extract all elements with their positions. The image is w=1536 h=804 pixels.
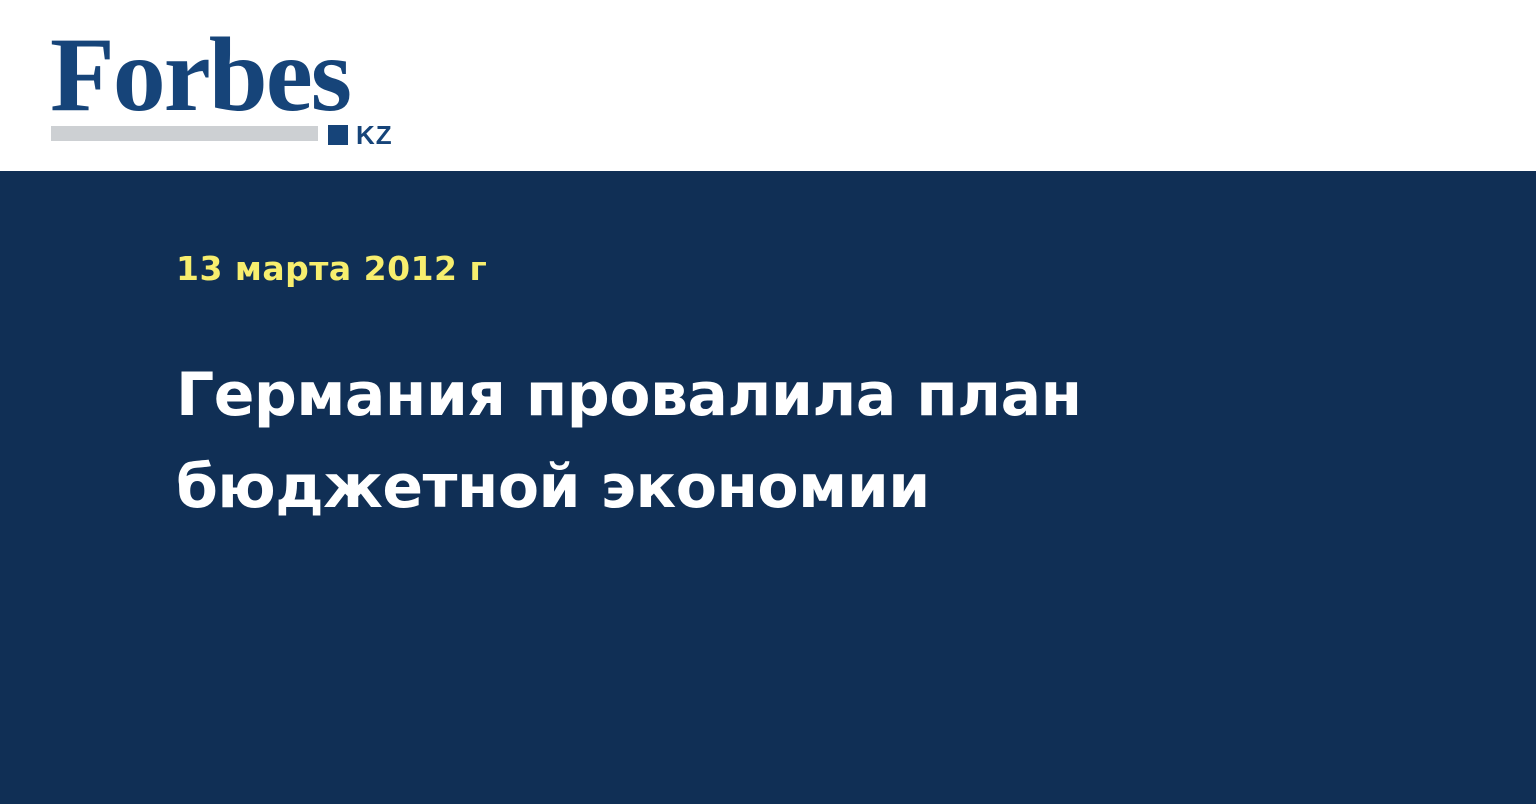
forbes-kz-logo[interactable]: Forbes KZ: [50, 22, 410, 147]
logo-blue-square-icon: [328, 125, 348, 145]
forbes-wordmark: Forbes: [50, 22, 350, 128]
logo-kz-suffix: KZ: [356, 122, 393, 148]
article-hero-page: Forbes KZ 13 марта 2012 г Германия прова…: [0, 0, 1536, 804]
logo-gray-rule: [51, 126, 318, 141]
site-header: Forbes KZ: [0, 0, 1536, 171]
article-title-line-2: бюджетной экономии: [176, 441, 1136, 533]
article-hero: 13 марта 2012 г Германия провалила план …: [0, 171, 1536, 804]
article-title: Германия провалила план бюджетной эконом…: [176, 349, 1136, 533]
article-title-line-1: Германия провалила план: [176, 349, 1136, 441]
article-date: 13 марта 2012 г: [176, 249, 487, 289]
